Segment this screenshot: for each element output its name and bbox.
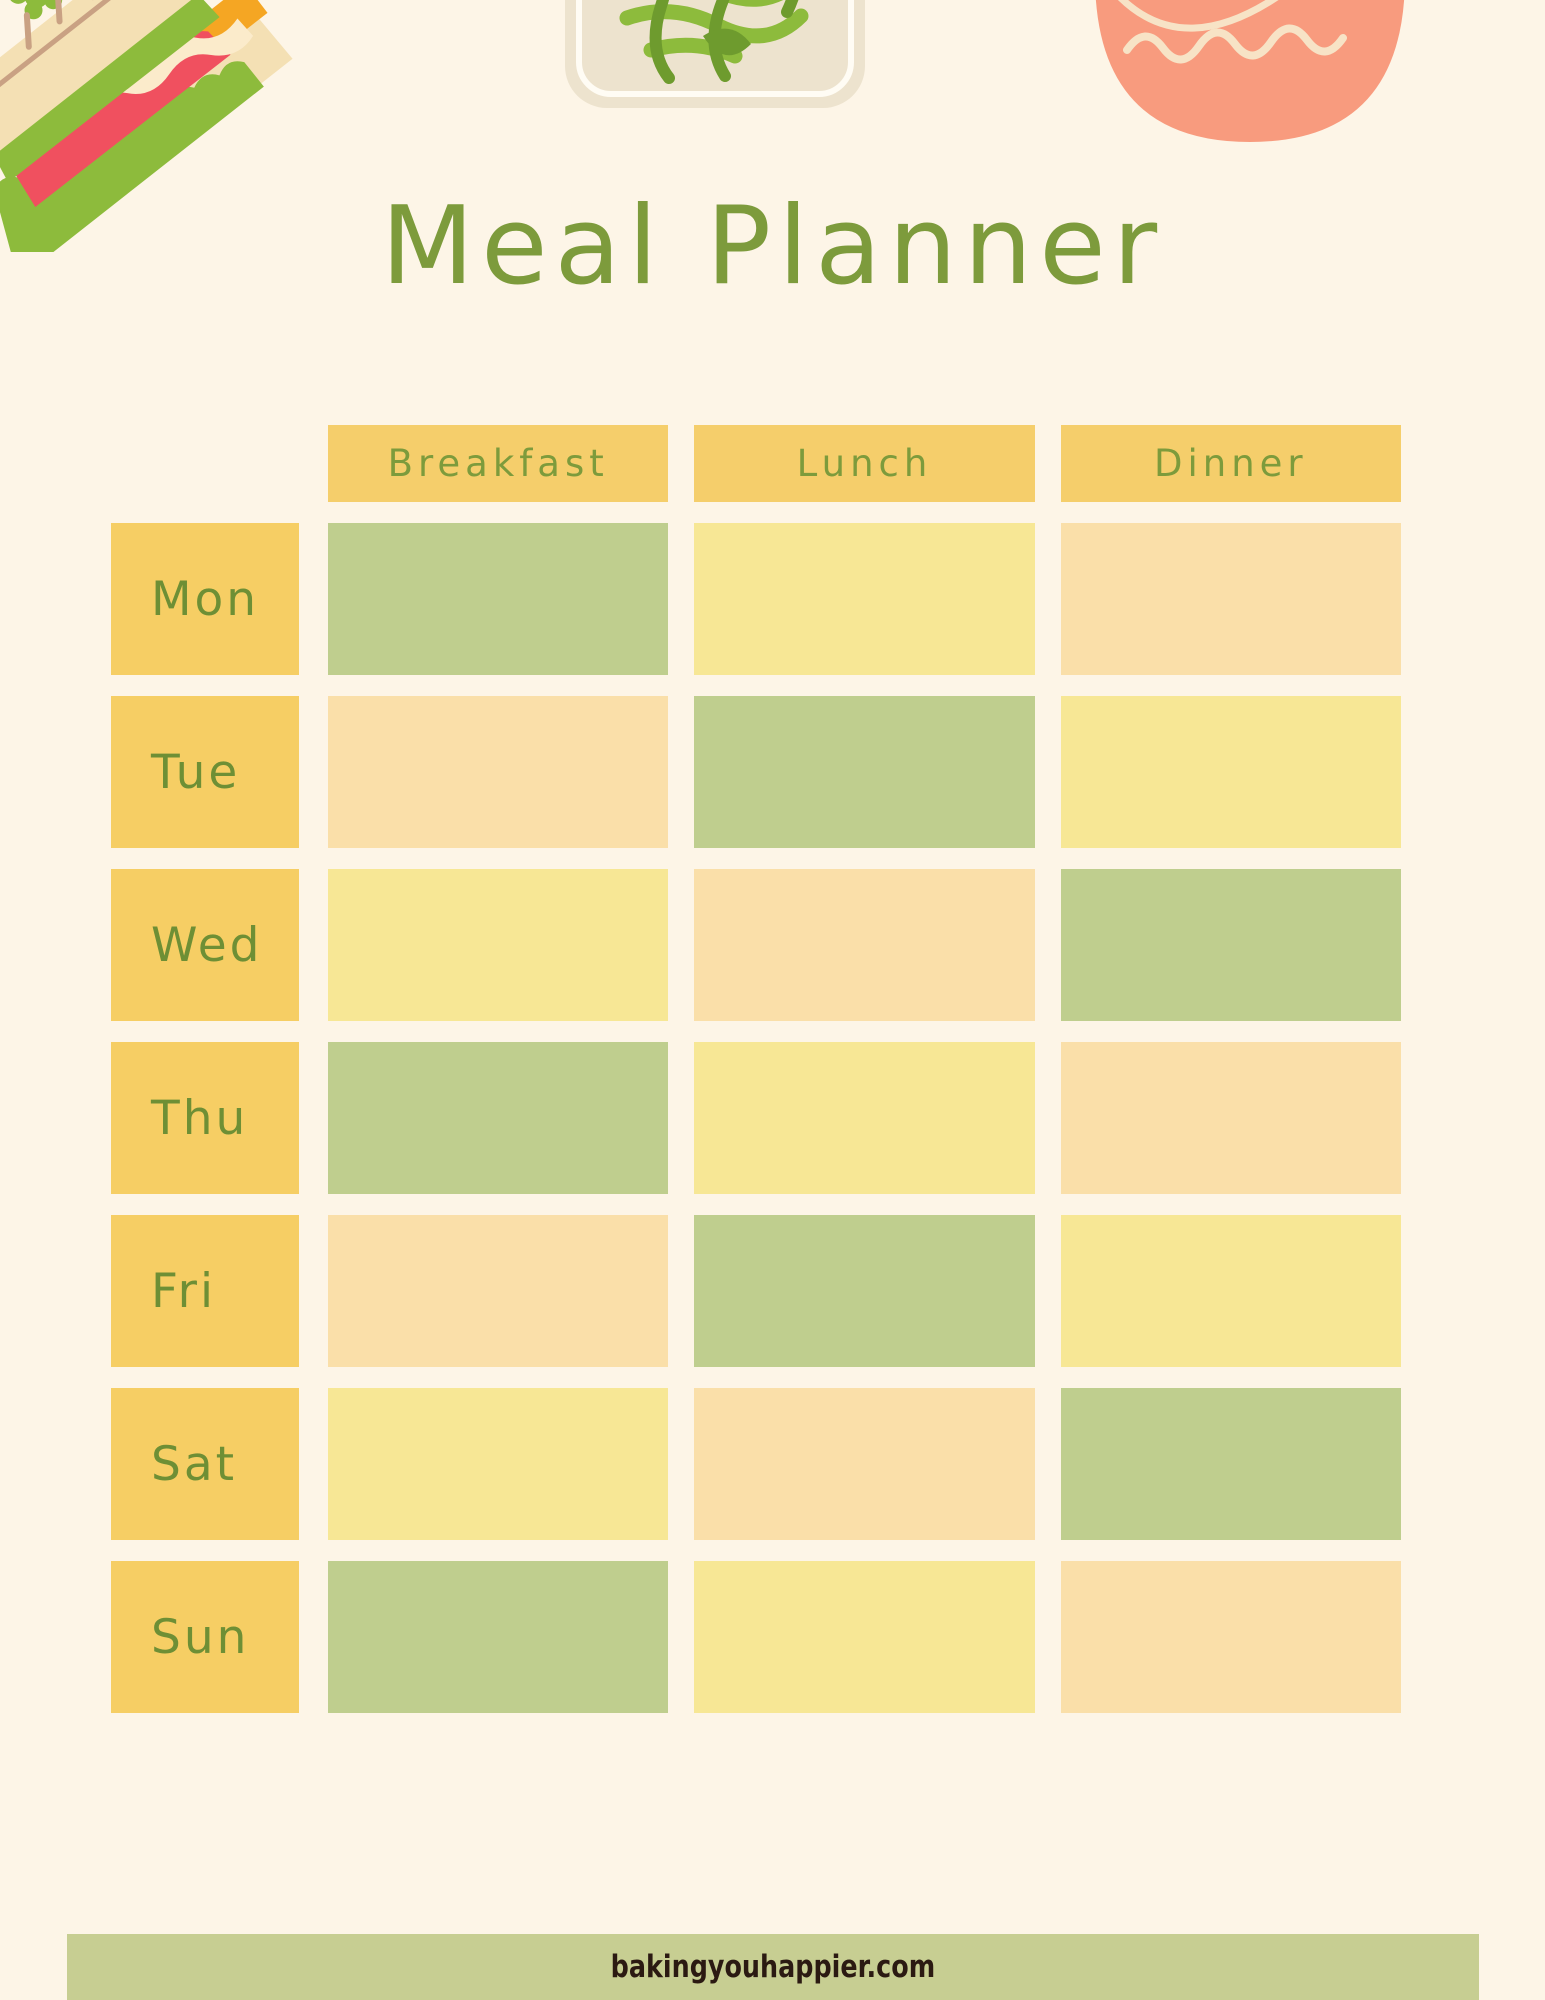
day-label-tue: Tue — [111, 696, 299, 848]
meal-planner-grid: Breakfast Lunch Dinner MonTueWedThuFriSa… — [111, 425, 1401, 1734]
header-label-dinner: Dinner — [1061, 425, 1401, 502]
meal-slot-thu-dinner[interactable] — [1061, 1042, 1401, 1194]
meal-slot-fri-lunch[interactable] — [694, 1215, 1034, 1367]
meal-slot-wrapper — [694, 869, 1034, 1021]
meal-slot-thu-lunch[interactable] — [694, 1042, 1034, 1194]
meal-slot-wrapper — [328, 1388, 668, 1540]
salad-bowl-icon — [1055, 0, 1445, 180]
column-header-lunch: Lunch — [694, 425, 1034, 502]
day-label-mon: Mon — [111, 523, 299, 675]
planner-rows: MonTueWedThuFriSatSun — [111, 523, 1401, 1713]
meal-slot-wrapper — [328, 696, 668, 848]
salad-bowl-illustration — [1055, 0, 1445, 180]
meal-slot-wrapper — [1061, 1388, 1401, 1540]
meal-slot-wrapper — [694, 523, 1034, 675]
day-label-cell-sat: Sat — [111, 1388, 299, 1540]
meal-slot-wrapper — [1061, 1561, 1401, 1713]
meal-slot-wrapper — [1061, 1042, 1401, 1194]
meal-slot-wed-breakfast[interactable] — [328, 869, 668, 1021]
meal-slot-mon-dinner[interactable] — [1061, 523, 1401, 675]
planner-row-mon: Mon — [111, 523, 1401, 675]
salad-tray-illustration — [555, 0, 885, 130]
page-title: Meal Planner — [0, 190, 1545, 303]
planner-row-tue: Tue — [111, 696, 1401, 848]
meal-slot-mon-breakfast[interactable] — [328, 523, 668, 675]
footer-website: bakingyouhappier.com — [611, 1949, 936, 1985]
meal-slot-wrapper — [1061, 869, 1401, 1021]
meal-slot-sun-lunch[interactable] — [694, 1561, 1034, 1713]
meal-slot-wrapper — [694, 696, 1034, 848]
meal-slot-wed-lunch[interactable] — [694, 869, 1034, 1021]
meal-slot-fri-breakfast[interactable] — [328, 1215, 668, 1367]
meal-slot-wrapper — [694, 1215, 1034, 1367]
meal-slot-sat-lunch[interactable] — [694, 1388, 1034, 1540]
meal-slot-fri-dinner[interactable] — [1061, 1215, 1401, 1367]
column-header-breakfast: Breakfast — [328, 425, 668, 502]
meal-slot-sun-dinner[interactable] — [1061, 1561, 1401, 1713]
meal-slot-wed-dinner[interactable] — [1061, 869, 1401, 1021]
column-header-dinner: Dinner — [1061, 425, 1401, 502]
planner-header-row: Breakfast Lunch Dinner — [111, 425, 1401, 502]
day-label-cell-tue: Tue — [111, 696, 299, 848]
meal-slot-wrapper — [328, 1042, 668, 1194]
salad-tray-icon — [555, 0, 885, 130]
meal-slot-wrapper — [694, 1561, 1034, 1713]
day-label-thu: Thu — [111, 1042, 299, 1194]
planner-row-wed: Wed — [111, 869, 1401, 1021]
meal-slot-wrapper — [694, 1388, 1034, 1540]
day-label-cell-sun: Sun — [111, 1561, 299, 1713]
day-label-wed: Wed — [111, 869, 299, 1021]
day-label-cell-mon: Mon — [111, 523, 299, 675]
day-label-cell-wed: Wed — [111, 869, 299, 1021]
day-label-sat: Sat — [111, 1388, 299, 1540]
meal-slot-sat-breakfast[interactable] — [328, 1388, 668, 1540]
day-label-sun: Sun — [111, 1561, 299, 1713]
meal-slot-wrapper — [328, 1561, 668, 1713]
header-label-lunch: Lunch — [694, 425, 1034, 502]
meal-slot-wrapper — [328, 523, 668, 675]
day-label-cell-thu: Thu — [111, 1042, 299, 1194]
meal-slot-mon-lunch[interactable] — [694, 523, 1034, 675]
header-label-breakfast: Breakfast — [328, 425, 668, 502]
meal-slot-wrapper — [328, 1215, 668, 1367]
footer-bar: bakingyouhappier.com — [67, 1934, 1479, 2000]
meal-slot-wrapper — [1061, 1215, 1401, 1367]
meal-slot-tue-lunch[interactable] — [694, 696, 1034, 848]
planner-row-thu: Thu — [111, 1042, 1401, 1194]
meal-slot-sun-breakfast[interactable] — [328, 1561, 668, 1713]
meal-slot-thu-breakfast[interactable] — [328, 1042, 668, 1194]
planner-row-sat: Sat — [111, 1388, 1401, 1540]
meal-slot-tue-dinner[interactable] — [1061, 696, 1401, 848]
day-label-fri: Fri — [111, 1215, 299, 1367]
meal-slot-sat-dinner[interactable] — [1061, 1388, 1401, 1540]
meal-slot-wrapper — [328, 869, 668, 1021]
meal-slot-wrapper — [1061, 523, 1401, 675]
day-label-cell-fri: Fri — [111, 1215, 299, 1367]
planner-row-sun: Sun — [111, 1561, 1401, 1713]
meal-slot-wrapper — [1061, 696, 1401, 848]
meal-slot-tue-breakfast[interactable] — [328, 696, 668, 848]
planner-row-fri: Fri — [111, 1215, 1401, 1367]
meal-slot-wrapper — [694, 1042, 1034, 1194]
